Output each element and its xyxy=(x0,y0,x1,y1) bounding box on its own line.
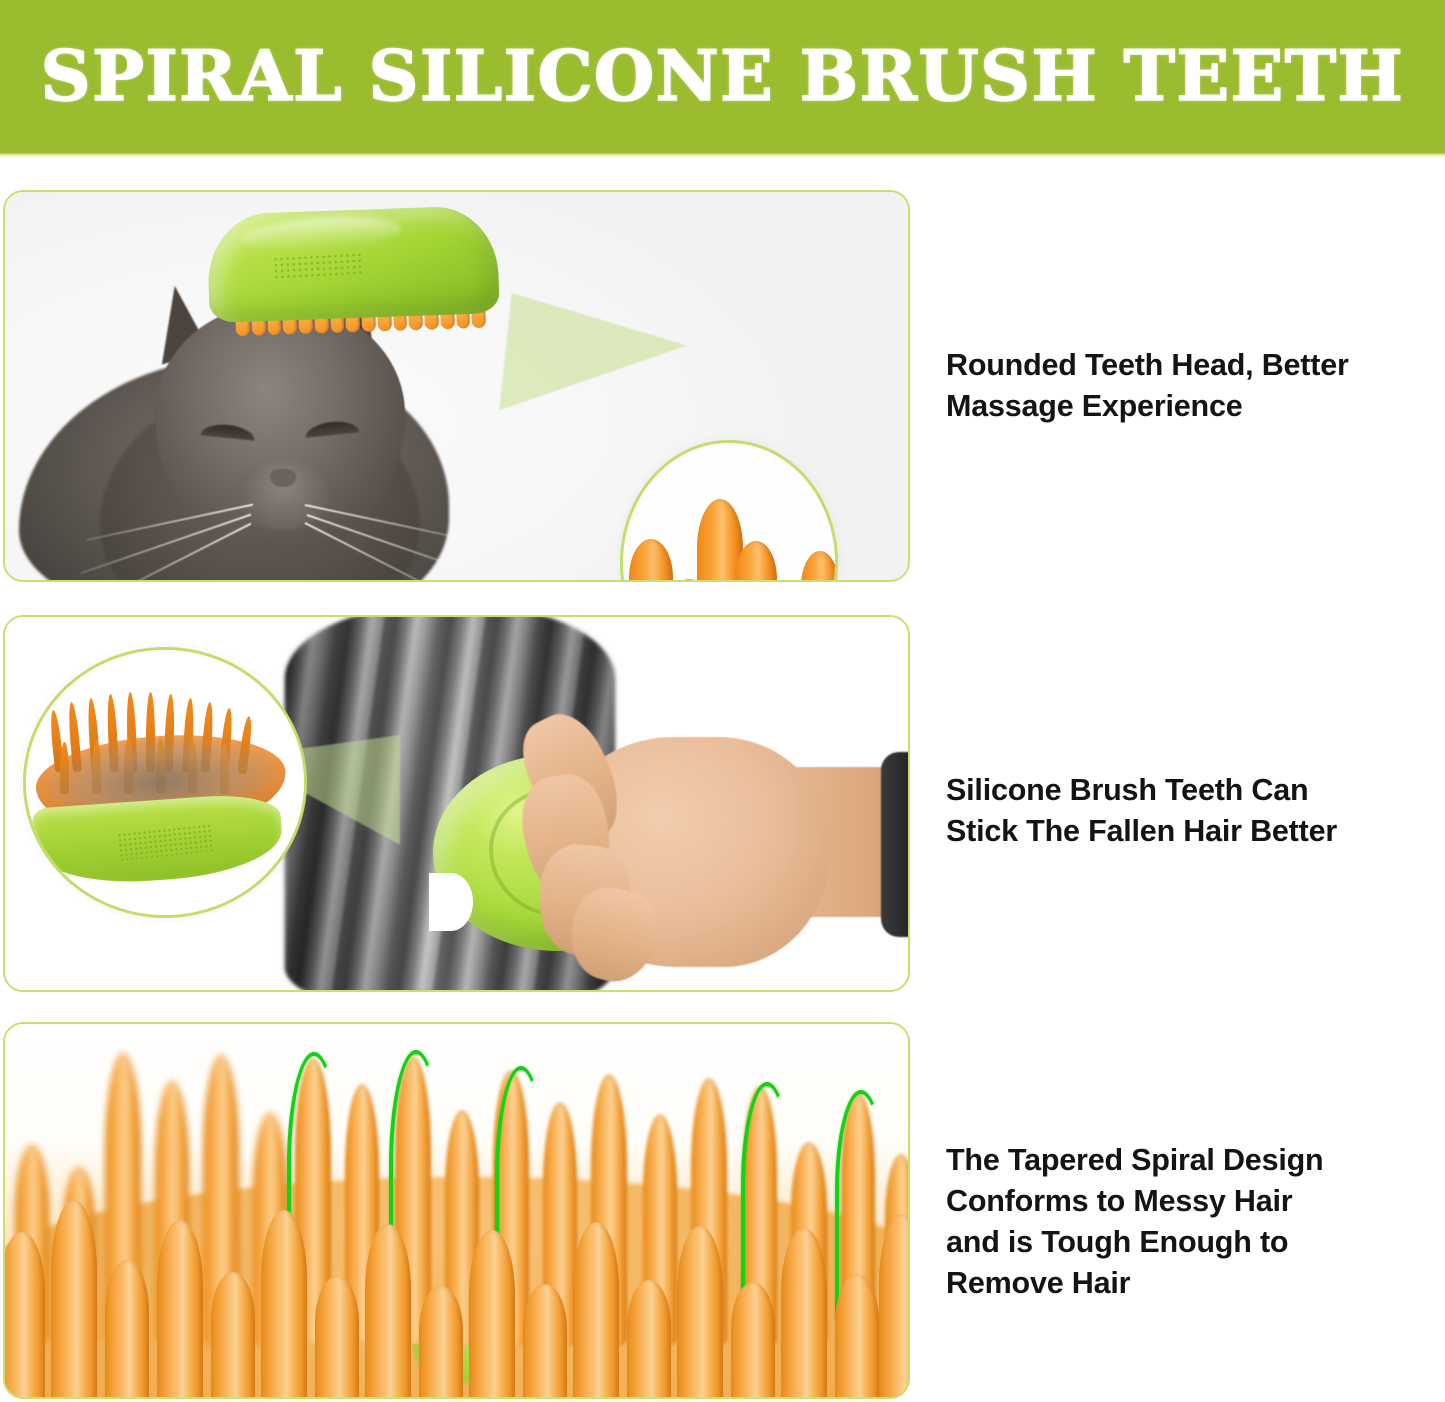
silicone-tooth xyxy=(105,1260,149,1397)
page-header-banner: SPIRAL SILICONE BRUSH TEETH xyxy=(0,0,1445,152)
silicone-tooth xyxy=(835,1274,879,1397)
caption-line: Conforms to Messy Hair xyxy=(946,1181,1428,1222)
silicone-tooth xyxy=(731,1282,775,1397)
caption-line: and is Tough Enough to xyxy=(946,1222,1428,1263)
magnifier-oval-icon xyxy=(620,440,838,580)
magnifier-oval-content xyxy=(26,650,304,915)
panel-1-photo xyxy=(5,192,908,580)
silicone-tooth xyxy=(419,1286,463,1397)
silicone-tooth xyxy=(677,1226,723,1397)
feature-panel-2 xyxy=(3,615,910,992)
feature-panel-3 xyxy=(3,1022,910,1399)
silicone-tooth xyxy=(261,1210,307,1397)
zoom-tooth xyxy=(801,551,838,580)
caption-line: Silicone Brush Teeth Can xyxy=(946,770,1428,811)
caption-line: Remove Hair xyxy=(946,1263,1428,1304)
magnifier-oval-content xyxy=(623,443,835,580)
zoom-tooth xyxy=(629,539,673,580)
silicone-tooth xyxy=(573,1222,619,1397)
feature-caption-1: Rounded Teeth Head, Better Massage Exper… xyxy=(946,345,1428,427)
page-title: SPIRAL SILICONE BRUSH TEETH xyxy=(41,42,1404,111)
feature-caption-3: The Tapered Spiral Design Conforms to Me… xyxy=(946,1140,1428,1303)
cat-nose-icon xyxy=(270,469,296,487)
panel-2-photo xyxy=(5,617,908,990)
panel-3-photo xyxy=(5,1024,908,1397)
silicone-tooth xyxy=(781,1228,827,1397)
silicone-tooth xyxy=(523,1284,567,1397)
silicone-tooth xyxy=(51,1200,97,1397)
feature-panel-1 xyxy=(3,190,910,582)
silicone-tooth xyxy=(315,1276,359,1397)
brush-notch xyxy=(429,873,473,931)
silicone-tooth xyxy=(365,1224,411,1397)
caption-line: The Tapered Spiral Design xyxy=(946,1140,1428,1181)
banner-underline-divider xyxy=(0,152,1445,157)
caption-line: Rounded Teeth Head, Better xyxy=(946,345,1428,386)
callout-cone-icon xyxy=(499,293,690,429)
silicone-tooth xyxy=(469,1230,515,1397)
silicone-tooth xyxy=(5,1232,45,1397)
silicone-tooth xyxy=(627,1280,671,1397)
silicone-tooth xyxy=(211,1272,255,1397)
magnifier-oval-icon xyxy=(23,647,307,918)
silicone-tooth xyxy=(879,1214,908,1397)
caption-line: Stick The Fallen Hair Better xyxy=(946,811,1428,852)
brush-vent-pattern xyxy=(272,252,363,283)
caption-line: Massage Experience xyxy=(946,386,1428,427)
silicone-tooth xyxy=(157,1220,203,1397)
feature-caption-2: Silicone Brush Teeth Can Stick The Falle… xyxy=(946,770,1428,852)
dark-sleeve xyxy=(881,752,908,937)
